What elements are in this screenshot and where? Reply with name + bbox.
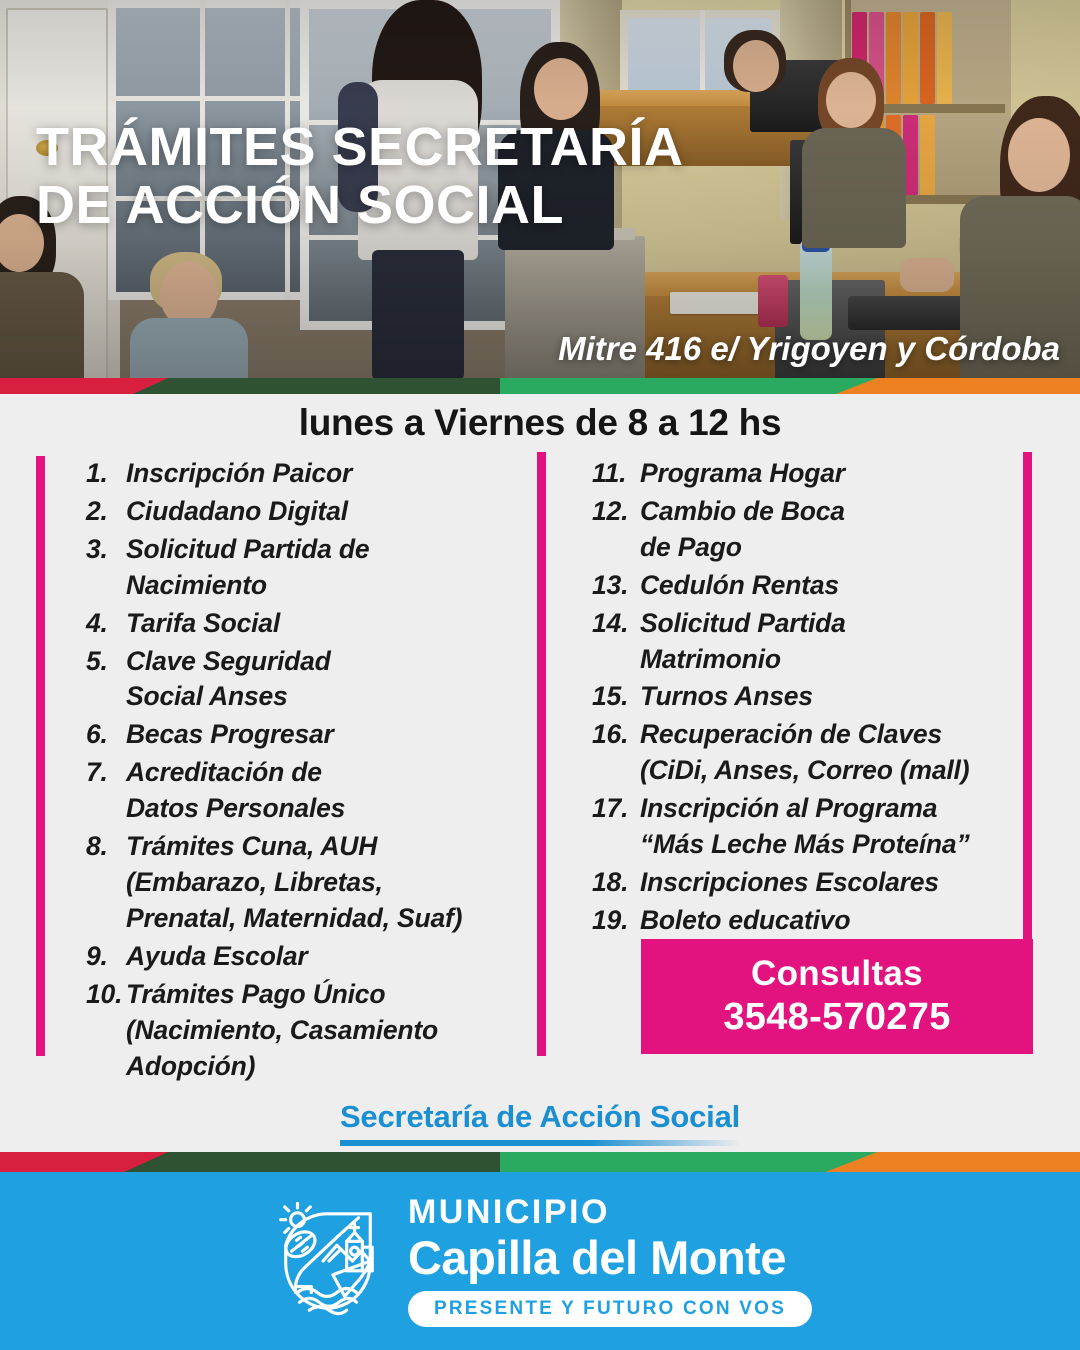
list-item-label: Inscripciones Escolares: [640, 865, 1012, 901]
list-item-label: Cambio de Boca de Pago: [640, 494, 1012, 566]
list-item-number: 12.: [592, 494, 640, 530]
list-item[interactable]: 10.Trámites Pago Único (Nacimiento, Casa…: [86, 977, 516, 1085]
list-item-label: Solicitud Partida de Nacimiento: [126, 532, 516, 604]
list-item-number: 17.: [592, 791, 640, 827]
list-item-number: 10.: [86, 977, 126, 1013]
list-item[interactable]: 12.Cambio de Boca de Pago: [592, 494, 1012, 566]
list-item-number: 16.: [592, 717, 640, 753]
department-link[interactable]: Secretaría de Acción Social: [0, 1099, 1080, 1146]
logo-municipio-label: MUNICIPIO: [408, 1195, 812, 1231]
list-item-label: Inscripción al Programa “Más Leche Más P…: [640, 791, 1012, 863]
consultas-phone[interactable]: 3548-570275: [723, 995, 950, 1040]
logo-city-name: Capilla del Monte: [408, 1233, 812, 1282]
stripe-segment-dark-green: [120, 1152, 520, 1174]
list-item-number: 18.: [592, 865, 640, 901]
list-item-number: 9.: [86, 939, 126, 975]
list-item-label: Inscripción Paicor: [126, 456, 516, 492]
page-title: TRÁMITES SECRETARÍA DE ACCIÓN SOCIAL: [36, 118, 684, 235]
list-item-number: 11.: [592, 456, 640, 492]
list-item-label: Clave Seguridad Social Anses: [126, 644, 516, 716]
schedule-heading: lunes a Viernes de 8 a 12 hs: [0, 402, 1080, 444]
list-item[interactable]: 3.Solicitud Partida de Nacimiento: [86, 532, 516, 604]
list-item-number: 13.: [592, 568, 640, 604]
list-item-label: Solicitud Partida Matrimonio: [640, 606, 1012, 678]
list-item[interactable]: 8.Trámites Cuna, AUH (Embarazo, Libretas…: [86, 829, 516, 937]
department-link-label: Secretaría de Acción Social: [340, 1099, 740, 1146]
list-item-number: 3.: [86, 532, 126, 568]
list-item[interactable]: 18.Inscripciones Escolares: [592, 865, 1012, 901]
list-item-number: 7.: [86, 755, 126, 791]
accent-stripe-bottom: [0, 1152, 1080, 1174]
accent-bar-middle: [537, 452, 546, 1056]
list-item-number: 15.: [592, 679, 640, 715]
list-item-number: 4.: [86, 606, 126, 642]
list-item[interactable]: 17.Inscripción al Programa “Más Leche Má…: [592, 791, 1012, 863]
list-item[interactable]: 9.Ayuda Escolar: [86, 939, 516, 975]
list-item-label: Boleto educativo: [640, 903, 1012, 939]
list-item[interactable]: 11.Programa Hogar: [592, 456, 1012, 492]
list-item[interactable]: 7.Acreditación de Datos Personales: [86, 755, 516, 827]
list-item[interactable]: 19.Boleto educativo: [592, 903, 1012, 939]
content-area: lunes a Viernes de 8 a 12 hs 1.Inscripci…: [0, 394, 1080, 1154]
list-item-number: 19.: [592, 903, 640, 939]
list-item-label: Tarifa Social: [126, 606, 516, 642]
list-item-number: 2.: [86, 494, 126, 530]
procedures-column-left: 1.Inscripción Paicor 2.Ciudadano Digital…: [86, 456, 516, 1086]
list-item-label: Ciudadano Digital: [126, 494, 516, 530]
logo-text-group: MUNICIPIO Capilla del Monte PRESENTE Y F…: [408, 1195, 812, 1327]
list-item[interactable]: 14.Solicitud Partida Matrimonio: [592, 606, 1012, 678]
logo-slogan-badge: PRESENTE Y FUTURO CON VOS: [408, 1291, 812, 1327]
procedures-list-left: 1.Inscripción Paicor 2.Ciudadano Digital…: [86, 456, 516, 1084]
procedures-column-right: 11.Programa Hogar 12.Cambio de Boca de P…: [592, 456, 1012, 941]
list-item-label: Ayuda Escolar: [126, 939, 516, 975]
list-item-number: 1.: [86, 456, 126, 492]
municipal-logo[interactable]: MUNICIPIO Capilla del Monte PRESENTE Y F…: [268, 1195, 812, 1327]
list-item[interactable]: 1.Inscripción Paicor: [86, 456, 516, 492]
capilla-del-monte-emblem-icon: [268, 1202, 386, 1320]
list-item[interactable]: 13.Cedulón Rentas: [592, 568, 1012, 604]
list-item-label: Becas Progresar: [126, 717, 516, 753]
poster: TRÁMITES SECRETARÍA DE ACCIÓN SOCIAL Mit…: [0, 0, 1080, 1350]
consultas-box[interactable]: Consultas 3548-570275: [641, 939, 1033, 1054]
list-item[interactable]: 15.Turnos Anses: [592, 679, 1012, 715]
list-item-label: Cedulón Rentas: [640, 568, 1012, 604]
list-item-number: 8.: [86, 829, 126, 865]
list-item[interactable]: 5.Clave Seguridad Social Anses: [86, 644, 516, 716]
consultas-label: Consultas: [751, 953, 923, 994]
list-item-label: Acreditación de Datos Personales: [126, 755, 516, 827]
list-item[interactable]: 2.Ciudadano Digital: [86, 494, 516, 530]
list-item-number: 14.: [592, 606, 640, 642]
accent-bar-right: [1023, 452, 1032, 950]
list-item-label: Turnos Anses: [640, 679, 1012, 715]
list-item-label: Programa Hogar: [640, 456, 1012, 492]
list-item-label: Recuperación de Claves (CiDi, Anses, Cor…: [640, 717, 1012, 789]
accent-bar-left: [36, 456, 45, 1056]
hero-banner: TRÁMITES SECRETARÍA DE ACCIÓN SOCIAL Mit…: [0, 0, 1080, 386]
list-item-label: Trámites Cuna, AUH (Embarazo, Libretas, …: [126, 829, 516, 937]
list-item-label: Trámites Pago Único (Nacimiento, Casamie…: [126, 977, 516, 1085]
procedures-list-right: 11.Programa Hogar 12.Cambio de Boca de P…: [592, 456, 1012, 939]
list-item[interactable]: 4.Tarifa Social: [86, 606, 516, 642]
list-item[interactable]: 16.Recuperación de Claves (CiDi, Anses, …: [592, 717, 1012, 789]
list-item-number: 6.: [86, 717, 126, 753]
list-item[interactable]: 6.Becas Progresar: [86, 717, 516, 753]
footer-bar: MUNICIPIO Capilla del Monte PRESENTE Y F…: [0, 1172, 1080, 1350]
list-item-number: 5.: [86, 644, 126, 680]
address-text: Mitre 416 e/ Yrigoyen y Córdoba: [558, 330, 1060, 368]
